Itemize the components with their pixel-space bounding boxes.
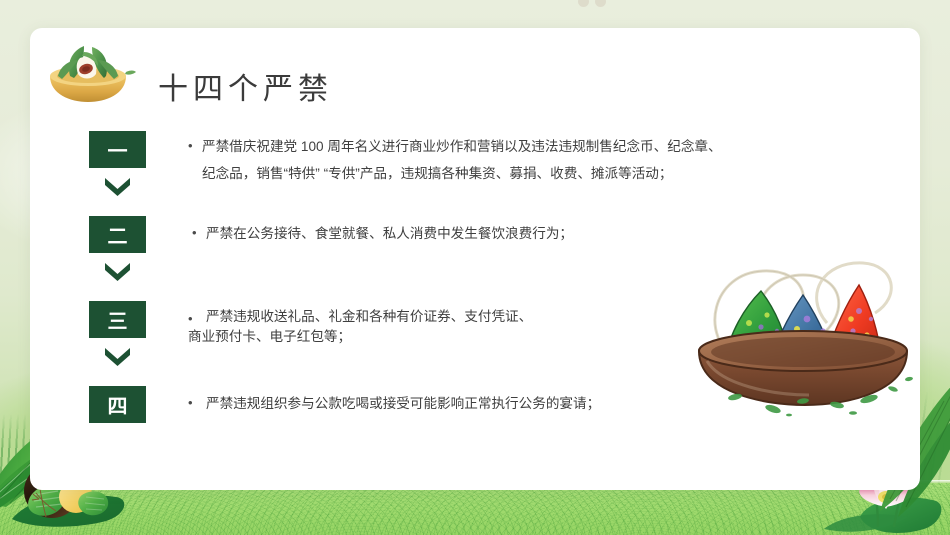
item-text: • 严禁在公务接待、食堂就餐、私人消费中发生餐饮浪费行为； xyxy=(192,221,573,248)
item-text: • 严禁违规组织参与公款吃喝或接受可能影响正常执行公务的宴请； xyxy=(188,391,600,418)
item-text: • 严禁借庆祝建党 100 周年名义进行商业炒作和营销以及违法违规制售纪念币、纪… xyxy=(188,134,722,187)
slide-canvas: 十四个严禁 xyxy=(0,0,950,535)
item-line: 商业预付卡、电子红包等； xyxy=(188,327,532,347)
item-line: 严禁违规组织参与公款吃喝或接受可能影响正常执行公务的宴请； xyxy=(206,391,600,418)
item-line: 严禁借庆祝建党 100 周年名义进行商业炒作和营销以及违法违规制售纪念币、纪念章… xyxy=(202,134,722,161)
chevron-down-icon xyxy=(105,178,130,196)
chevron-down-icon xyxy=(105,348,130,366)
item-line: 纪念品，销售“特供” “专供”产品，违规搞各种集资、募捐、收费、摊派等活动； xyxy=(202,161,722,188)
chevron-down-icon xyxy=(105,263,130,281)
item-line: 严禁在公务接待、食堂就餐、私人消费中发生餐饮浪费行为； xyxy=(206,221,573,248)
item-body: 严禁在公务接待、食堂就餐、私人消费中发生餐饮浪费行为； xyxy=(206,221,573,248)
content-card: 十四个严禁 xyxy=(30,28,920,490)
bullet-dot: • xyxy=(188,391,206,416)
top-decorative-dots xyxy=(578,0,618,8)
rules-list: 一 • 严禁借庆祝建党 100 周年名义进行商业炒作和营销以及违法违规制售纪念币… xyxy=(30,28,920,490)
item-text: • 严禁违规收送礼品、礼金和各种有价证券、支付凭证、 商业预付卡、电子红包等； xyxy=(188,307,532,346)
bullet-dot: • xyxy=(192,221,206,246)
item-number-badge: 一 xyxy=(89,131,146,168)
item-line: 严禁违规收送礼品、礼金和各种有价证券、支付凭证、 xyxy=(206,307,532,327)
item-body: 严禁违规收送礼品、礼金和各种有价证券、支付凭证、 商业预付卡、电子红包等； xyxy=(206,307,532,346)
item-number-badge: 二 xyxy=(89,216,146,253)
bullet-dot: • xyxy=(188,134,202,159)
item-body: 严禁违规组织参与公款吃喝或接受可能影响正常执行公务的宴请； xyxy=(206,391,600,418)
item-body: 严禁借庆祝建党 100 周年名义进行商业炒作和营销以及违法违规制售纪念币、纪念章… xyxy=(202,134,722,187)
item-number-badge: 三 xyxy=(89,301,146,338)
item-number-badge: 四 xyxy=(89,386,146,423)
